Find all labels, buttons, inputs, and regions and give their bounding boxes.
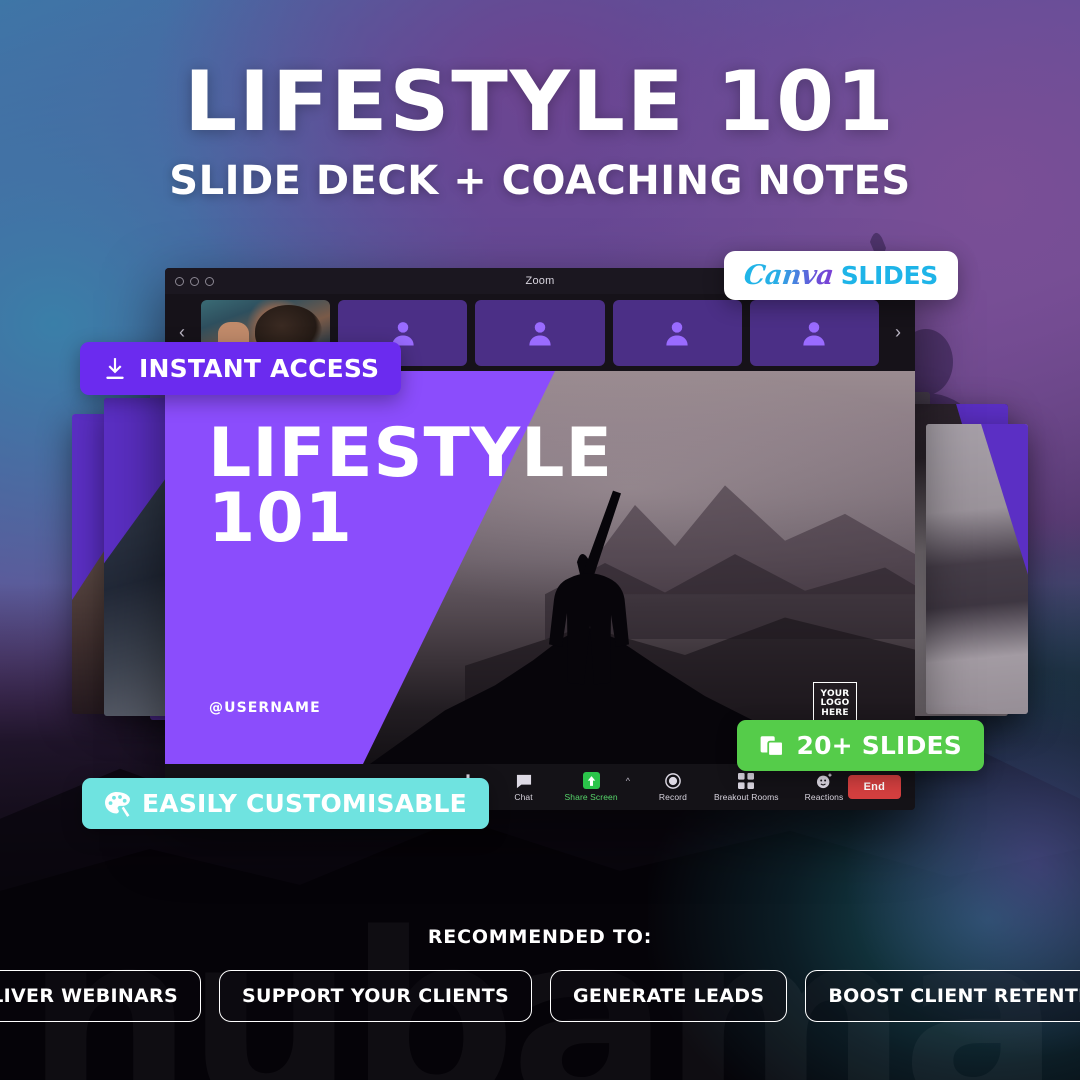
toolbar-chat-label: Chat	[514, 792, 532, 802]
toolbar-record-button[interactable]: Record	[658, 772, 688, 802]
slides-stack-icon	[759, 733, 785, 759]
person-icon	[525, 318, 555, 348]
filmstrip-prev-icon[interactable]: ‹	[171, 322, 193, 343]
participant-avatar-tile[interactable]	[475, 300, 604, 366]
filmstrip-next-icon[interactable]: ›	[887, 322, 909, 343]
toolbar-record-label: Record	[659, 792, 687, 802]
recommended-title: RECOMMENDED TO:	[0, 926, 1080, 948]
badge-instant-access: INSTANT ACCESS	[80, 342, 401, 395]
recommended-pill[interactable]: BOOST CLIENT RETENTION	[805, 970, 1080, 1022]
palette-icon	[104, 791, 131, 817]
toolbar-reactions-label: Reactions	[805, 792, 844, 802]
badge-slides-count: 20+ SLIDES	[737, 720, 984, 771]
download-icon	[102, 356, 128, 382]
poster-stage: nubama LIFESTYLE 101 SLIDE DECK + COACHI…	[0, 0, 1080, 1080]
person-icon	[799, 318, 829, 348]
end-meeting-button[interactable]: End	[848, 775, 901, 799]
recommended-pill[interactable]: DELIVER WEBINARS	[0, 970, 201, 1022]
grid-squares-icon	[738, 772, 754, 789]
toolbar-chat-button[interactable]: Chat	[509, 772, 539, 802]
person-icon	[662, 318, 692, 348]
badge-customisable-label: EASILY CUSTOMISABLE	[142, 789, 467, 818]
smiley-plus-icon	[816, 772, 833, 789]
toolbar-breakout-rooms-label: Breakout Rooms	[714, 792, 779, 802]
recommended-pill[interactable]: SUPPORT YOUR CLIENTS	[219, 970, 532, 1022]
badge-slides-count-label: 20+ SLIDES	[796, 731, 962, 760]
slide-username: @USERNAME	[209, 700, 321, 716]
chat-bubble-icon	[516, 772, 532, 789]
page-title: LIFESTYLE 101	[0, 62, 1080, 142]
badge-canva-slides: Canva SLIDES	[724, 251, 958, 300]
toolbar-share-screen-label: Share Screen	[565, 792, 618, 802]
share-options-chevron-icon[interactable]: ^	[624, 776, 632, 786]
share-screen-icon	[583, 772, 600, 789]
recommended-pill[interactable]: GENERATE LEADS	[550, 970, 787, 1022]
recommended-section: RECOMMENDED TO: DELIVER WEBINARS SUPPORT…	[0, 926, 1080, 1022]
toolbar-breakout-rooms-button[interactable]: Breakout Rooms	[714, 772, 779, 802]
participant-avatar-tile[interactable]	[750, 300, 879, 366]
badge-canva-slides-label: SLIDES	[841, 261, 938, 290]
shared-slide-view: LIFESTYLE 101 @USERNAME YOUR LOGO HERE	[165, 371, 915, 764]
canva-logo-icon: Canva	[743, 260, 836, 291]
record-circle-icon	[665, 772, 681, 789]
page-subtitle: SLIDE DECK + COACHING NOTES	[0, 158, 1080, 204]
slide-title: LIFESTYLE 101	[208, 421, 613, 552]
badge-instant-access-label: INSTANT ACCESS	[139, 354, 379, 383]
toolbar-share-screen-button[interactable]: Share Screen	[565, 772, 618, 802]
side-slide-card	[926, 424, 1028, 714]
toolbar-reactions-button[interactable]: Reactions	[805, 772, 844, 802]
participant-avatar-tile[interactable]	[613, 300, 742, 366]
logo-line-3: HERE	[821, 709, 849, 718]
badge-customisable: EASILY CUSTOMISABLE	[82, 778, 489, 829]
poster-heading-group: LIFESTYLE 101 SLIDE DECK + COACHING NOTE…	[0, 62, 1080, 204]
recommended-pill-list: DELIVER WEBINARS SUPPORT YOUR CLIENTS GE…	[0, 970, 1080, 1022]
